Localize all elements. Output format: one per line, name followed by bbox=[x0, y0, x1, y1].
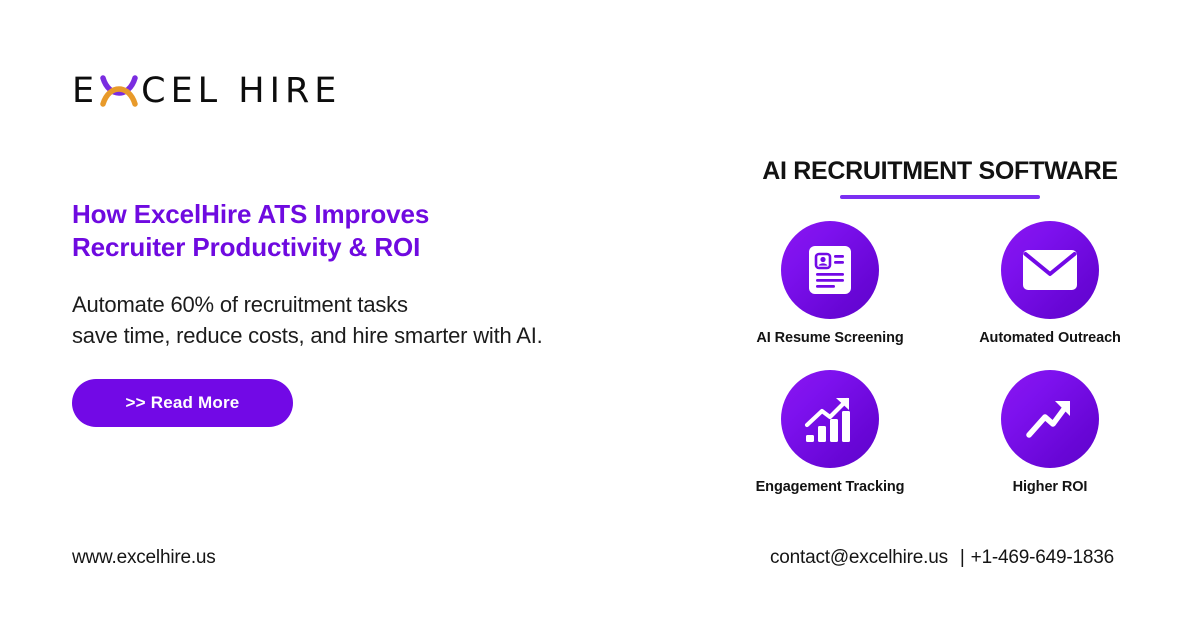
brand-logo-text-rest: CEL HIRE bbox=[141, 74, 341, 109]
feature-icon-circle bbox=[781, 221, 879, 319]
feature-panel: AI RECRUITMENT SOFTWARE bbox=[740, 158, 1140, 495]
trend-arrow-up-icon bbox=[1024, 396, 1076, 442]
brand-logo-x-icon bbox=[100, 71, 138, 111]
title-underline-divider bbox=[840, 195, 1040, 199]
subheadline-line-2: save time, reduce costs, and hire smarte… bbox=[72, 320, 692, 351]
brand-logo-text: E CEL HIRE bbox=[72, 71, 341, 111]
feature-icon-circle bbox=[781, 370, 879, 468]
headline-line-1: How ExcelHire ATS Improves bbox=[72, 198, 632, 231]
page-title: How ExcelHire ATS Improves Recruiter Pro… bbox=[72, 198, 632, 264]
feature-panel-title: AI RECRUITMENT SOFTWARE bbox=[740, 158, 1140, 186]
brand-logo: E CEL HIRE bbox=[72, 68, 341, 114]
feature-item-engagement-tracking: Engagement Tracking bbox=[740, 370, 920, 495]
feature-icon-circle bbox=[1001, 221, 1099, 319]
footer-phone-link[interactable]: +1-469-649-1836 bbox=[971, 547, 1114, 569]
footer-email-link[interactable]: contact@excelhire.us bbox=[770, 547, 948, 569]
feature-item-resume-screening: AI Resume Screening bbox=[740, 221, 920, 346]
feature-label: AI Resume Screening bbox=[756, 330, 903, 346]
footer-contact-info: contact@excelhire.us | +1-469-649-1836 bbox=[770, 547, 1114, 569]
envelope-icon bbox=[1022, 249, 1078, 291]
feature-label: Automated Outreach bbox=[979, 330, 1121, 346]
subheadline-line-1: Automate 60% of recruitment tasks bbox=[72, 289, 692, 320]
bar-chart-growth-icon bbox=[803, 394, 857, 444]
resume-document-icon bbox=[807, 244, 853, 296]
feature-icon-circle bbox=[1001, 370, 1099, 468]
footer-website-link[interactable]: www.excelhire.us bbox=[72, 547, 216, 569]
feature-item-automated-outreach: Automated Outreach bbox=[960, 221, 1140, 346]
feature-label: Higher ROI bbox=[1013, 479, 1088, 495]
feature-item-higher-roi: Higher ROI bbox=[960, 370, 1140, 495]
feature-grid: AI Resume Screening Automated Outreach bbox=[740, 221, 1140, 495]
headline-line-2: Recruiter Productivity & ROI bbox=[72, 231, 632, 264]
marketing-banner: E CEL HIRE How ExcelHire ATS Improves Re… bbox=[0, 0, 1200, 627]
feature-label: Engagement Tracking bbox=[756, 479, 905, 495]
brand-logo-text-e: E bbox=[72, 74, 99, 109]
read-more-button[interactable]: >> Read More bbox=[72, 379, 293, 427]
footer-separator: | bbox=[960, 547, 965, 569]
subheadline: Automate 60% of recruitment tasks save t… bbox=[72, 289, 692, 351]
